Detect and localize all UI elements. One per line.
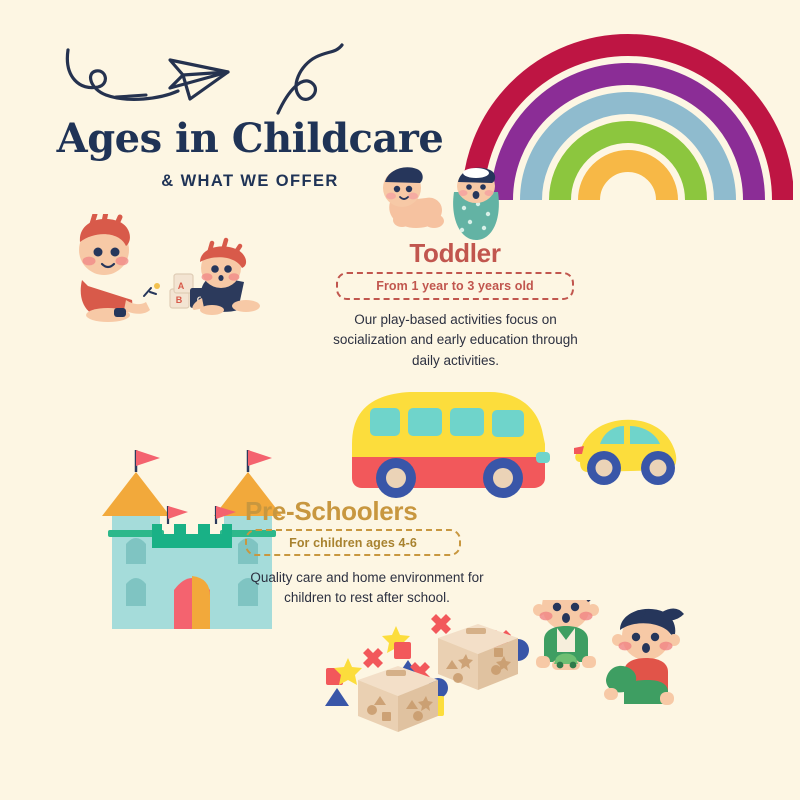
rainbow-illustration — [463, 22, 793, 202]
girl-red-green-outfit — [604, 608, 684, 705]
school-bus — [352, 392, 550, 498]
badge-preschoolers-age: For children ages 4-6 — [245, 529, 461, 556]
wooden-shape-cube — [438, 624, 518, 690]
wooden-shape-cube — [358, 666, 438, 732]
play-scene-illustration — [320, 600, 710, 735]
paper-airplane-doodle — [50, 25, 410, 120]
svg-text:B: B — [176, 295, 183, 305]
toy-vehicles-illustration — [340, 382, 700, 507]
section-heading-preschoolers: Pre-Schoolers — [245, 496, 475, 527]
toddlers-illustration: A B C — [62, 214, 262, 326]
svg-text:A: A — [178, 281, 185, 291]
badge-toddler-age: From 1 year to 3 years old — [336, 272, 574, 300]
babies-illustration — [372, 158, 512, 243]
badge-preschoolers-label: For children ages 4-6 — [289, 536, 417, 550]
body-text-toddler: Our play-based activities focus on socia… — [318, 310, 593, 371]
page-title: Ages in Childcare — [40, 118, 460, 160]
boy-green-shirt — [533, 600, 599, 670]
car — [574, 420, 676, 485]
infographic-canvas: Ages in Childcare & WHAT WE OFFER — [0, 0, 800, 800]
section-heading-toddler: Toddler — [330, 238, 580, 269]
badge-toddler-label: From 1 year to 3 years old — [376, 279, 534, 293]
